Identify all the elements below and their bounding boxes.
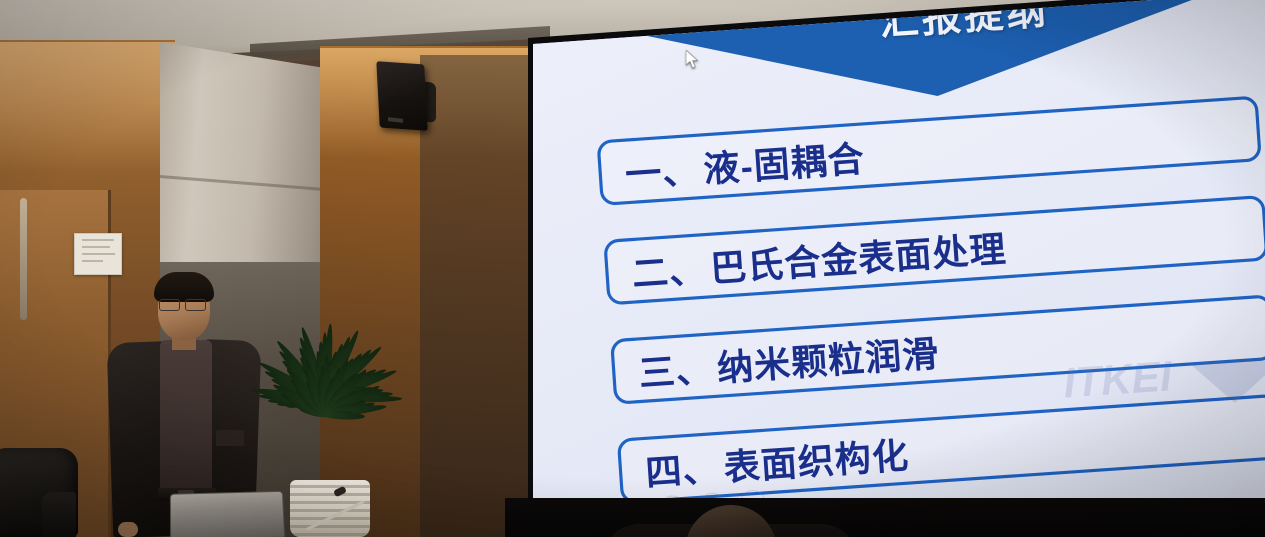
presenter-laptop[interactable]	[170, 491, 285, 537]
outline-item-3[interactable]: 三、 纳米颗粒润滑	[610, 294, 1265, 405]
outline-item-3-index: 三、	[637, 339, 715, 396]
projection-screen: 汇报提纲 一、 液-固耦合 二、 巴氏合金表面处理 三、 纳米颗粒润滑 四、 表…	[507, 0, 1265, 537]
outline-item-4[interactable]: 四、 表面织构化	[617, 394, 1265, 505]
presenter-shirt	[160, 340, 212, 500]
outline-item-4-label: 表面织构化	[722, 426, 911, 490]
mouse-cursor-icon	[686, 50, 699, 69]
outline-item-2[interactable]: 二、 巴氏合金表面处理	[603, 195, 1265, 306]
presenter-jacket-pocket	[216, 430, 244, 446]
conference-room-photo: 汇报提纲 一、 液-固耦合 二、 巴氏合金表面处理 三、 纳米颗粒润滑 四、 表…	[0, 0, 1265, 537]
presenter-hair	[154, 272, 214, 302]
palm-frond	[324, 412, 365, 420]
outline-item-2-label: 巴氏合金表面处理	[708, 219, 1008, 291]
outline-item-3-label: 纳米颗粒润滑	[715, 324, 941, 391]
presenter-glasses-icon	[158, 299, 210, 309]
outline-item-1-label: 液-固耦合	[702, 129, 867, 192]
door-handle[interactable]	[20, 198, 27, 320]
chair-armrest	[42, 492, 76, 537]
presenter-hand	[118, 522, 138, 537]
outline-item-2-index: 二、	[630, 240, 708, 297]
outline-list: 一、 液-固耦合 二、 巴氏合金表面处理 三、 纳米颗粒润滑 四、 表面织构化	[596, 95, 1265, 537]
plant-pot	[290, 480, 370, 537]
outline-item-1-index: 一、	[623, 141, 701, 198]
left-wall-uplight	[0, 42, 175, 172]
door-notice-sign	[74, 233, 122, 275]
outline-item-4-index: 四、	[644, 439, 722, 496]
